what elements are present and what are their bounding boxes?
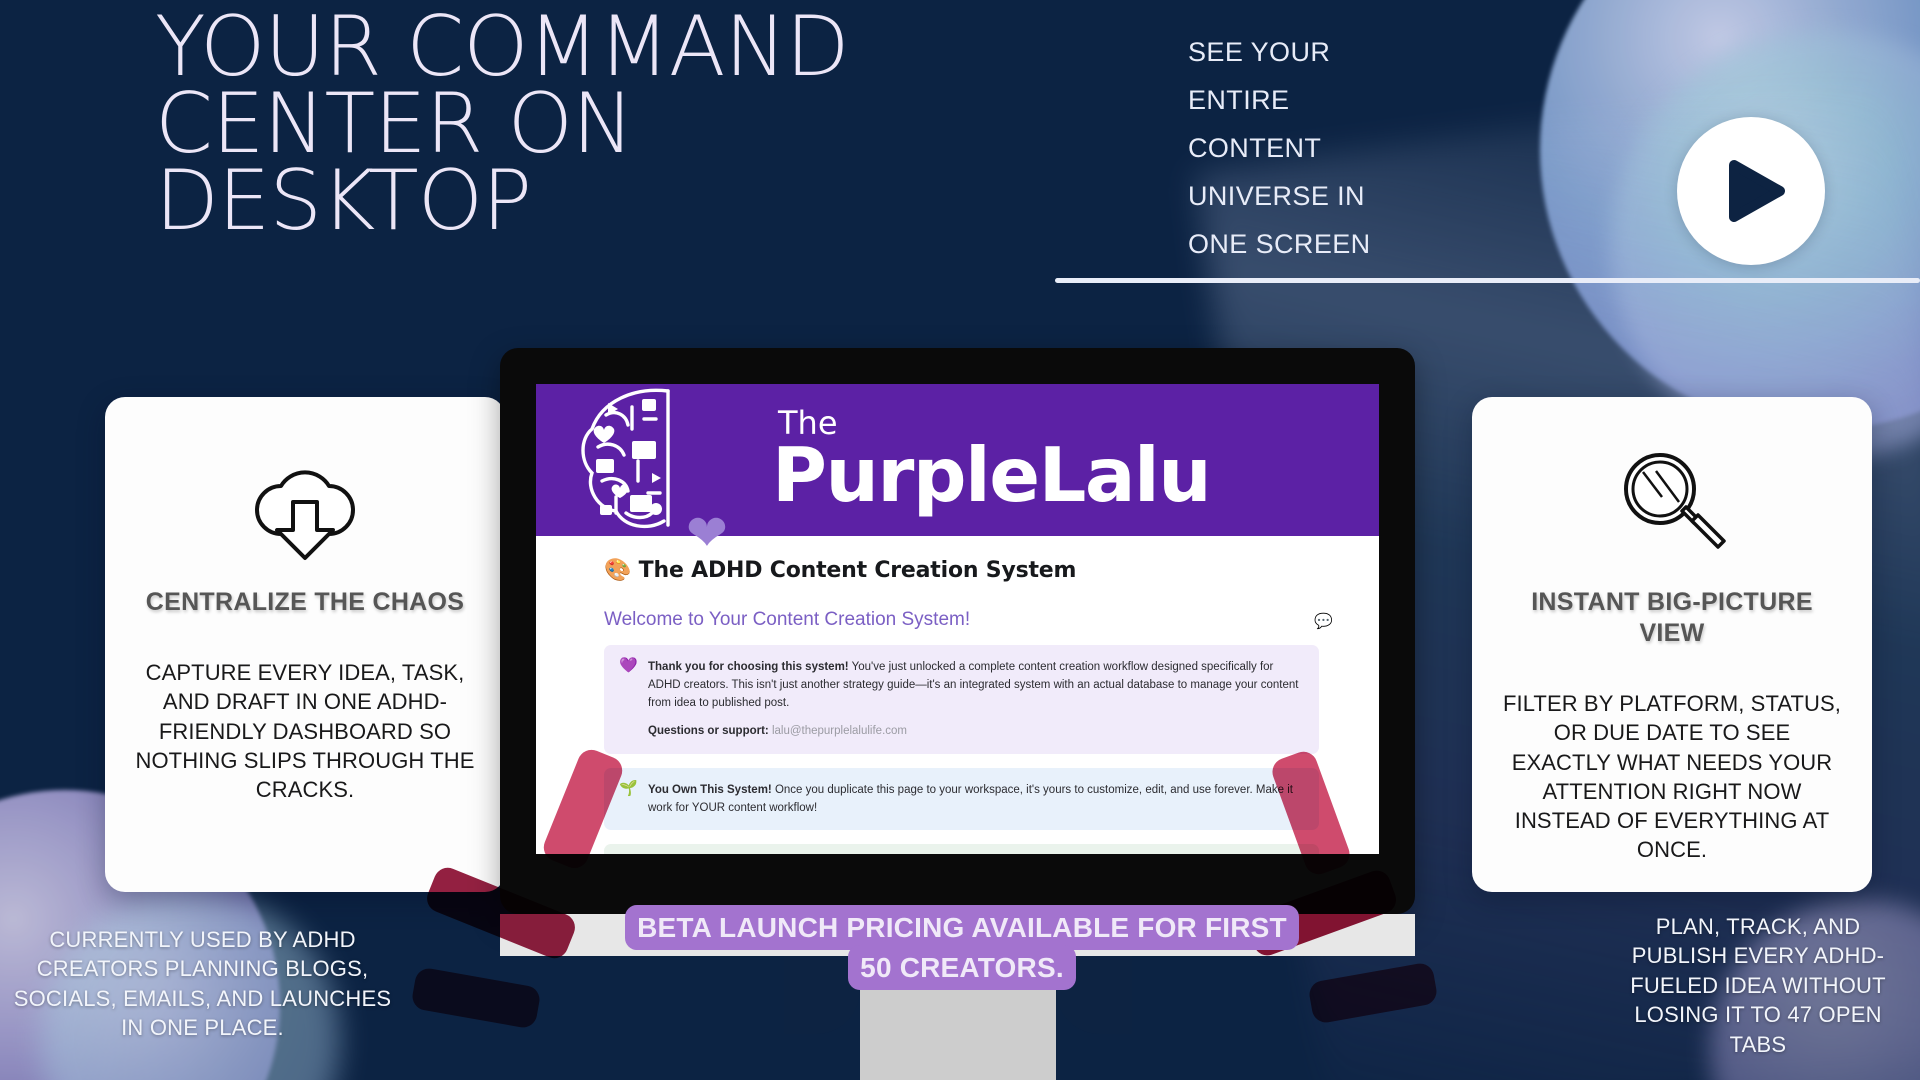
subhead-line-2: ENTIRE (1188, 76, 1528, 124)
callout-you-own-this: 🌱 You Own This System! Once you duplicat… (604, 768, 1319, 830)
seedling-emoji: 🌱 (619, 781, 638, 796)
play-button[interactable] (1677, 117, 1825, 265)
support-email[interactable]: lalu@thepurplelalulife.com (769, 725, 907, 737)
page-title: YOUR COMMAND CENTER ON DESKTOP (155, 8, 915, 240)
card-body: CAPTURE EVERY IDEA, TASK, AND DRAFT IN O… (135, 658, 475, 804)
brand-name: PurpleLalu (772, 439, 1210, 513)
caption-bottom-left: CURRENTLY USED BY ADHD CREATORS PLANNING… (0, 925, 405, 1043)
subhead-line-1: SEE YOUR (1188, 28, 1528, 76)
beta-pricing-badge: BETA LAUNCH PRICING AVAILABLE FOR FIRST … (612, 908, 1312, 988)
divider-rule (1055, 278, 1920, 283)
feature-card-centralize: CENTRALIZE THE CHAOS CAPTURE EVERY IDEA,… (105, 397, 505, 892)
callout-command-center: 💜 Your complete content command center! … (604, 844, 1319, 854)
brand-banner: The PurpleLalu ❤ (536, 384, 1379, 536)
subhead-line-3: CONTENT (1188, 124, 1528, 172)
subhead-line-5: ONE SCREEN (1188, 220, 1528, 268)
purple-heart-emoji: 💜 (619, 658, 638, 673)
doodle-brain-icon (572, 385, 758, 535)
subhead-line-4: UNIVERSE IN (1188, 172, 1528, 220)
monitor-screen: The PurpleLalu ❤ 🎨 The ADHD Content Crea… (536, 384, 1379, 854)
brand-wordmark: The PurpleLalu (772, 407, 1210, 513)
card-title: CENTRALIZE THE CHAOS (135, 587, 475, 618)
card-title: INSTANT BIG-PICTURE VIEW (1502, 587, 1842, 649)
beta-pricing-text: BETA LAUNCH PRICING AVAILABLE FOR FIRST … (625, 905, 1299, 990)
purple-heart-icon: ❤ (686, 516, 730, 556)
poster-canvas: YOUR COMMAND CENTER ON DESKTOP SEE YOUR … (0, 0, 1920, 1080)
monitor-bezel: The PurpleLalu ❤ 🎨 The ADHD Content Crea… (500, 348, 1415, 914)
content-page-title: 🎨 The ADHD Content Creation System (604, 558, 1319, 583)
feature-card-bigpicture: INSTANT BIG-PICTURE VIEW FILTER BY PLATF… (1472, 397, 1872, 892)
comment-icon[interactable]: 💬 (1314, 612, 1333, 630)
headline-line-2: CENTER ON (155, 85, 915, 162)
callout-bold: Thank you for choosing this system! (648, 661, 849, 673)
welcome-heading: Welcome to Your Content Creation System!… (604, 609, 1319, 631)
headline-line-1: YOUR COMMAND (155, 8, 915, 85)
subheadline: SEE YOUR ENTIRE CONTENT UNIVERSE IN ONE … (1188, 28, 1528, 268)
palette-emoji: 🎨 (604, 558, 631, 583)
magnifier-icon (1502, 441, 1842, 569)
desktop-monitor-mockup: The PurpleLalu ❤ 🎨 The ADHD Content Crea… (500, 348, 1415, 954)
notion-page-content: 🎨 The ADHD Content Creation System Welco… (536, 536, 1379, 854)
card-body: FILTER BY PLATFORM, STATUS, OR DUE DATE … (1502, 689, 1842, 865)
callout-thank-you: 💜 Thank you for choosing this system! Yo… (604, 645, 1319, 754)
cloud-download-icon (135, 441, 475, 569)
callout-bold: You Own This System! (648, 784, 772, 796)
headline-line-3: DESKTOP (155, 162, 915, 239)
play-icon (1728, 159, 1786, 223)
caption-bottom-right: PLAN, TRACK, AND PUBLISH EVERY ADHD-FUEL… (1608, 912, 1908, 1059)
callout-support-label: Questions or support: (648, 725, 769, 737)
